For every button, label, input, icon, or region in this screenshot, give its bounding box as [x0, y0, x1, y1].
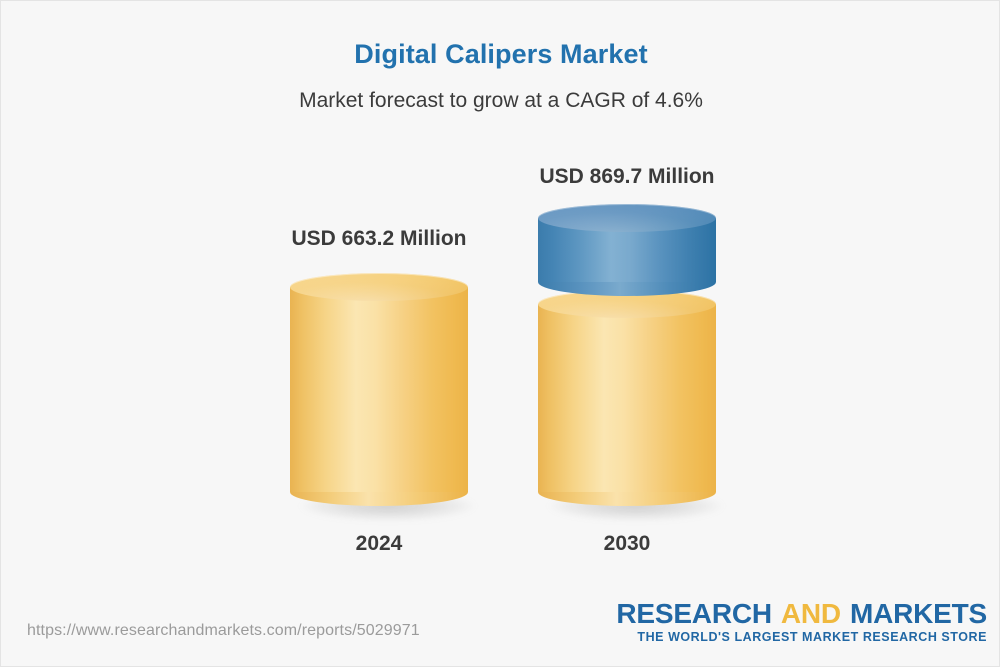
logo-word-markets: MARKETS: [850, 598, 987, 629]
bar-cylinder-2030-base: [538, 290, 716, 506]
logo-tagline: THE WORLD'S LARGEST MARKET RESEARCH STOR…: [616, 630, 987, 644]
cylinder-body: [538, 304, 716, 492]
logo-word-and: AND: [781, 598, 841, 629]
plot-area: USD 663.2 Million 2024 USD 869.7 Million: [1, 1, 1000, 601]
bar-cylinder-2024: [290, 273, 468, 506]
category-label-2030: 2030: [508, 532, 746, 556]
bar-value-label-2024: USD 663.2 Million: [260, 227, 498, 251]
category-label-2024: 2024: [260, 532, 498, 556]
source-url[interactable]: https://www.researchandmarkets.com/repor…: [27, 622, 420, 640]
cylinder-top-cap: [538, 204, 716, 232]
researchandmarkets-logo[interactable]: RESEARCHANDMARKETS THE WORLD'S LARGEST M…: [616, 599, 987, 644]
chart-canvas: Digital Calipers Market Market forecast …: [0, 0, 1000, 667]
logo-word-research: RESEARCH: [616, 598, 772, 629]
cylinder-body: [290, 287, 468, 492]
cylinder-top-cap: [290, 273, 468, 301]
logo-wordmark: RESEARCHANDMARKETS: [616, 599, 987, 628]
bar-cylinder-2030-growth: [538, 204, 716, 296]
bar-value-label-2030: USD 869.7 Million: [508, 165, 746, 189]
